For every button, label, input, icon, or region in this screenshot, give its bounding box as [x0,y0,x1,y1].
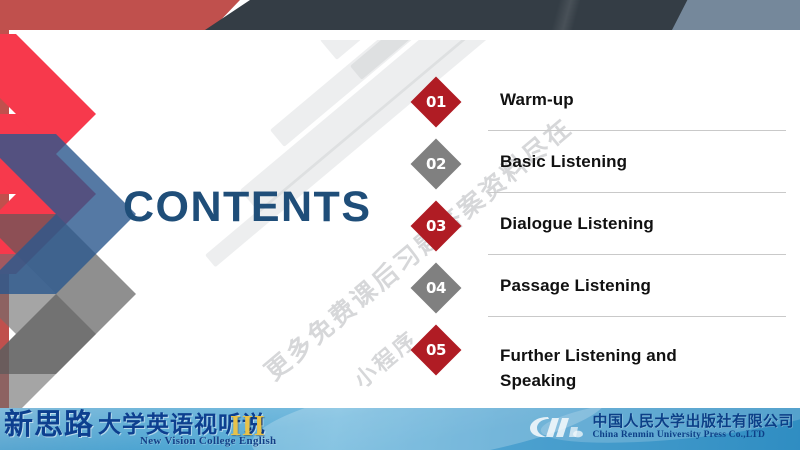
contents-item-label: Basic Listening [500,150,780,175]
number-badge-05: 05 [411,325,462,376]
publisher-block: 中国人民大学出版社有限公司 China Renmin University Pr… [526,413,794,441]
footer-bar: 新思路 大学英语视听说 New Vision College English I… [0,408,800,450]
number-badge-label: 01 [426,93,446,111]
contents-item-divider [488,192,786,193]
publisher-name-en: China Renmin University Press Co.,LTD [592,430,794,440]
contents-item-divider [488,254,786,255]
number-badge-02: 02 [411,139,462,190]
publisher-name-cn: 中国人民大学出版社有限公司 [592,414,794,430]
contents-item-05[interactable]: 05 Further Listening and Speaking [418,322,788,412]
series-brand-name-cn: 新思路 [4,410,94,439]
contents-item-label: Passage Listening [500,274,780,299]
topbar-red-segment [0,0,240,30]
top-accent-bar [0,0,800,30]
page-title: CONTENTS [123,183,372,232]
contents-item-03[interactable]: 03 Dialogue Listening [418,198,788,260]
contents-item-label: Further Listening and Speaking [500,344,730,393]
contents-item-04[interactable]: 04 Passage Listening [418,260,788,322]
number-badge-03: 03 [411,201,462,252]
contents-item-divider [488,316,786,317]
watermark-band [320,40,650,60]
number-badge-label: 03 [426,217,446,235]
series-volume-number: III [230,411,266,443]
watermark-text-line2: 小程序 [346,322,424,395]
topbar-slate-segment [672,0,800,30]
topbar-dark-segment [205,0,705,30]
contents-item-01[interactable]: 01 Warm-up [418,74,788,136]
contents-item-label: Dialogue Listening [500,212,780,237]
contents-list: 01 Warm-up 02 Basic Listening 03 Dialogu… [418,74,788,412]
slide-canvas: 更多免费课后习题答案资料尽在 小程序 CONTENTS 01 Warm-up 0… [0,0,800,450]
number-badge-04: 04 [411,263,462,314]
publisher-logo-icon [526,413,586,441]
contents-item-label: Warm-up [500,88,780,113]
contents-item-02[interactable]: 02 Basic Listening [418,136,788,198]
number-badge-label: 04 [426,279,446,297]
number-badge-label: 05 [426,341,446,359]
number-badge-01: 01 [411,77,462,128]
topbar-highlight [520,0,610,30]
contents-item-divider [488,130,786,131]
number-badge-label: 02 [426,155,446,173]
publisher-text: 中国人民大学出版社有限公司 China Renmin University Pr… [592,414,794,441]
